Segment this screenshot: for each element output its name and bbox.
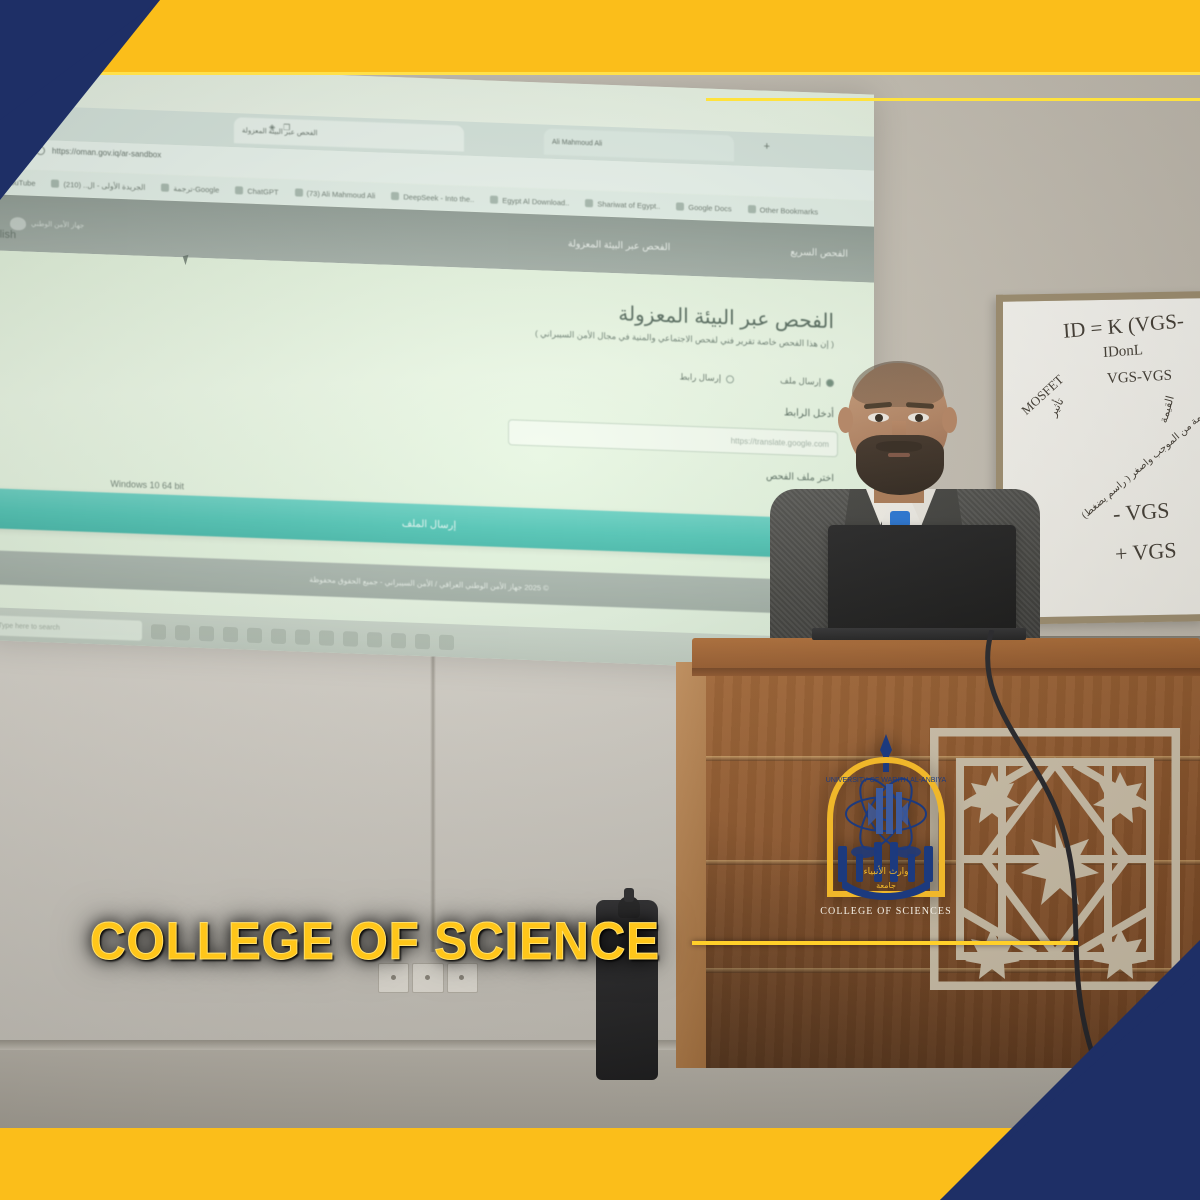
bookmark-item[interactable]: DeepSeek - Into the..	[391, 191, 474, 203]
bookmark-item[interactable]: Egypt Al Download..	[490, 195, 569, 207]
whiteboard-equation-2: IDonL	[1103, 342, 1144, 362]
crest-bottom-text: COLLEGE OF SCIENCES	[820, 906, 951, 917]
favicon-icon	[295, 188, 303, 196]
whiteboard-equation-4: - VGS	[1112, 497, 1170, 527]
language-toggle[interactable]: English	[0, 228, 16, 241]
file-explorer-icon[interactable]	[199, 625, 214, 641]
bookmark-item[interactable]: Shariwat of Egypt..	[585, 199, 660, 211]
skype-icon[interactable]	[319, 630, 334, 646]
wall-panel-joint	[430, 652, 436, 952]
bookmark-item[interactable]: ChatGPT	[235, 186, 278, 197]
favicon-icon	[676, 202, 684, 210]
cortana-icon[interactable]	[151, 624, 166, 640]
speaker-eye-left	[868, 413, 889, 422]
word-icon[interactable]	[343, 631, 358, 647]
speaker-ear-left	[838, 407, 853, 433]
favicon-icon	[51, 179, 59, 187]
crest-outer-text: UNIVERSITY OF WARITH AL-ANBIYA	[826, 777, 947, 784]
bookmark-item[interactable]: ترجمة-Google	[161, 183, 219, 194]
nav-item-sandbox-scan[interactable]: الفحص عبر البيئة المعزولة	[568, 238, 670, 253]
laptop-on-podium	[828, 525, 1016, 630]
favicon-icon	[490, 196, 498, 204]
whatsapp-icon[interactable]	[295, 629, 310, 645]
powerpoint-icon[interactable]	[367, 632, 382, 648]
crest-arabic-line-2: جامعة	[876, 881, 896, 890]
site-main: الفحص عبر البيئة المعزولة ( إن هذا الفحص…	[0, 250, 874, 583]
submit-file-button[interactable]: إرسال الملف	[0, 488, 874, 561]
translate-icon[interactable]: ◈	[269, 122, 275, 131]
speaker-lips	[888, 453, 910, 457]
speaker-eye-right	[908, 413, 929, 422]
telegram-icon[interactable]	[271, 628, 286, 644]
page-title-college-of-science: COLLEGE OF SCIENCE	[90, 911, 660, 972]
site-brand-label: جهاز الأمن الوطني	[31, 220, 84, 230]
edge-icon[interactable]	[223, 626, 238, 642]
browser-tab-2-label: Ali Mahmoud Ali	[552, 138, 602, 147]
favicon-icon	[235, 186, 243, 194]
vlc-icon[interactable]	[415, 633, 430, 649]
top-gold-band	[0, 0, 1200, 72]
podium-side-panel	[676, 662, 710, 1068]
projection-screen: الفحص عبر البيئة المعزولة Ali Mahmoud Al…	[0, 62, 874, 673]
university-crest: UNIVERSITY OF WARITH AL-ANBIYA وارث الأن…	[812, 728, 960, 928]
folder-icon	[748, 205, 756, 213]
sandbox-scan-webpage: الفحص السريع الفحص عبر البيئة المعزولة ج…	[0, 194, 874, 627]
radio-indicator-icon	[726, 375, 734, 383]
bag-handle	[624, 888, 634, 902]
taskbar-search-input[interactable]: Type here to search	[0, 615, 142, 641]
site-brand: جهاز الأمن الوطني	[10, 216, 84, 232]
whiteboard-arabic-note-3: القيمة	[1157, 394, 1177, 424]
task-view-icon[interactable]	[175, 625, 190, 641]
os-note: Windows 10 64 bit	[110, 479, 184, 492]
college-of-science-event-photo-card: الفحص عبر البيئة المعزولة Ali Mahmoud Al…	[0, 0, 1200, 1200]
whiteboard-equation-3: VGS-VGS	[1107, 368, 1173, 388]
whiteboard-equation-1: ID = K (VGS-	[1062, 308, 1184, 343]
browser-tab-extras[interactable]: ◈ ❐	[269, 122, 290, 132]
bookmark-item[interactable]: (73) Ali Mahmoud Ali	[295, 188, 376, 200]
right-gold-hairline	[706, 98, 1200, 101]
speaker-mustache	[876, 441, 922, 452]
bookmark-item[interactable]: الجريدة الأولى - ال.. (210)	[51, 179, 145, 191]
page-title: الفحص عبر البيئة المعزولة	[618, 301, 834, 334]
event-photograph: الفحص عبر البيئة المعزولة Ali Mahmoud Al…	[0, 0, 1200, 1200]
crest-arabic-line-1: وارث الأنبياء	[863, 865, 908, 877]
podium-power-cable	[940, 630, 1140, 1070]
bookmark-item[interactable]: Google Docs	[676, 202, 731, 213]
bookmark-item-other[interactable]: Other Bookmarks	[748, 205, 818, 217]
adobe-icon[interactable]	[439, 634, 454, 650]
agency-shield-icon	[10, 216, 26, 230]
title-underline-rule	[692, 941, 1078, 945]
whiteboard-equation-5: + VGS	[1114, 537, 1177, 567]
radio-send-link[interactable]: إرسال رابط	[679, 372, 734, 385]
new-tab-button[interactable]: +	[764, 141, 770, 153]
speaker-ear-right	[942, 407, 957, 433]
nav-item-quick-scan[interactable]: الفحص السريع	[790, 246, 848, 259]
favicon-icon	[161, 184, 169, 192]
music-icon[interactable]	[247, 627, 262, 643]
copy-icon[interactable]: ❐	[283, 123, 290, 132]
favicon-icon	[585, 199, 593, 207]
favicon-icon	[391, 192, 399, 200]
speaker-hair	[852, 361, 944, 407]
chrome-icon[interactable]	[391, 632, 406, 648]
top-gold-hairline	[0, 72, 1200, 75]
